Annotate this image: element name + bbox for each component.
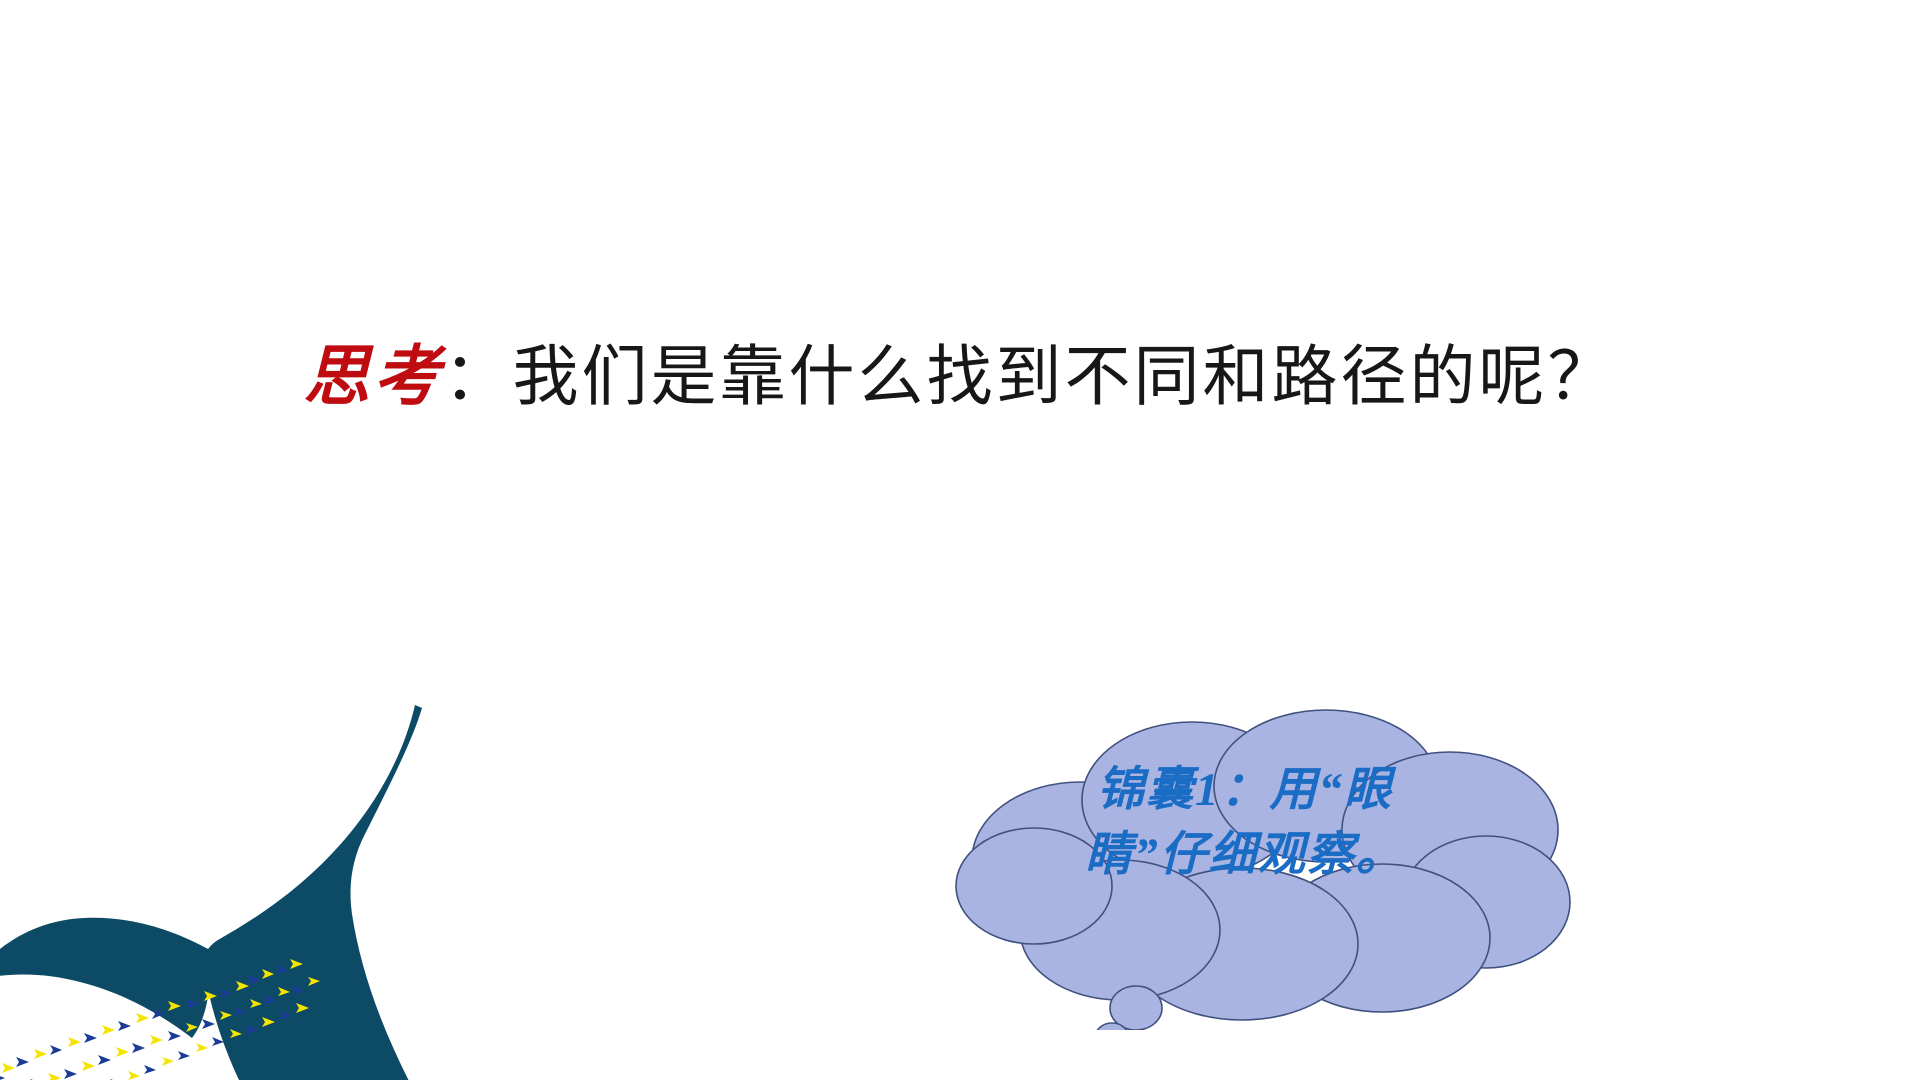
title-emphasis: 思考: [304, 341, 444, 414]
title-rest: ：我们是靠什么找到不同和路径的呢？: [444, 341, 1617, 414]
thought-bubble: [930, 690, 1590, 1030]
page-title: 思考：我们是靠什么找到不同和路径的呢？: [0, 338, 1920, 417]
fish-school-icon: [0, 955, 390, 1080]
fish-school-graphic: [0, 955, 390, 1080]
slide-canvas: 思考：我们是靠什么找到不同和路径的呢？ 锦囊1：用“眼: [0, 0, 1920, 1080]
thought-bubble-icon: [930, 690, 1590, 1030]
